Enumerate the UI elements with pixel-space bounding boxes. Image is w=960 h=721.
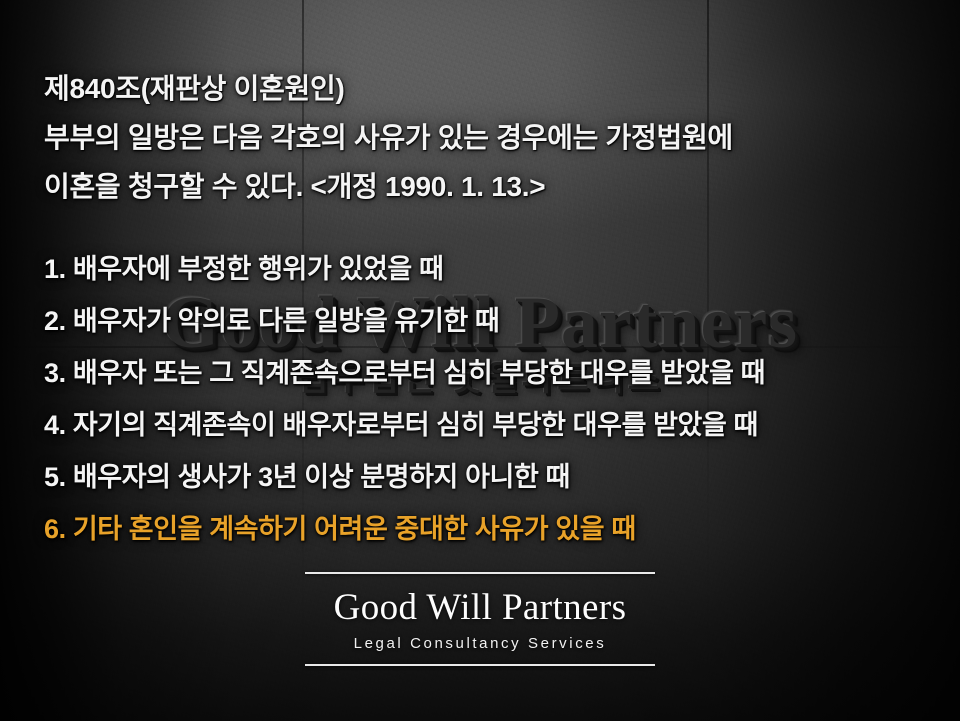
grounds-list: 1. 배우자에 부정한 행위가 있었을 때 2. 배우자가 악의로 다른 일방을… (44, 243, 944, 555)
grounds-list-item-4: 4. 자기의 직계존속이 배우자로부터 심히 부당한 대우를 받았을 때 (44, 399, 944, 451)
statute-heading-line-1: 제840조(재판상 이혼원인) (44, 64, 944, 113)
statute-heading: 제840조(재판상 이혼원인) 부부의 일방은 다음 각호의 사유가 있는 경우… (44, 64, 944, 211)
grounds-list-item-1: 1. 배우자에 부정한 행위가 있었을 때 (44, 243, 944, 295)
grounds-list-item-6: 6. 기타 혼인을 계속하기 어려운 중대한 사유가 있을 때 (44, 503, 944, 555)
company-logo: Good Will Partners Legal Consultancy Ser… (305, 572, 655, 666)
statute-heading-line-2: 부부의 일방은 다음 각호의 사유가 있는 경우에는 가정법원에 (44, 113, 944, 162)
logo-company-name: Good Will Partners (305, 589, 655, 627)
logo-rule-bottom (305, 664, 655, 666)
slide-canvas: Good Will Partners 법무법인 굿윌파트너스 제840조(재판상… (0, 0, 960, 721)
grounds-list-item-5: 5. 배우자의 생사가 3년 이상 분명하지 아니한 때 (44, 451, 944, 503)
grounds-list-item-2: 2. 배우자가 악의로 다른 일방을 유기한 때 (44, 295, 944, 347)
statute-heading-line-3: 이혼을 청구할 수 있다. <개정 1990. 1. 13.> (44, 162, 944, 211)
logo-rule-top (305, 572, 655, 574)
grounds-list-item-3: 3. 배우자 또는 그 직계존속으로부터 심히 부당한 대우를 받았을 때 (44, 347, 944, 399)
logo-tagline: Legal Consultancy Services (305, 636, 655, 653)
